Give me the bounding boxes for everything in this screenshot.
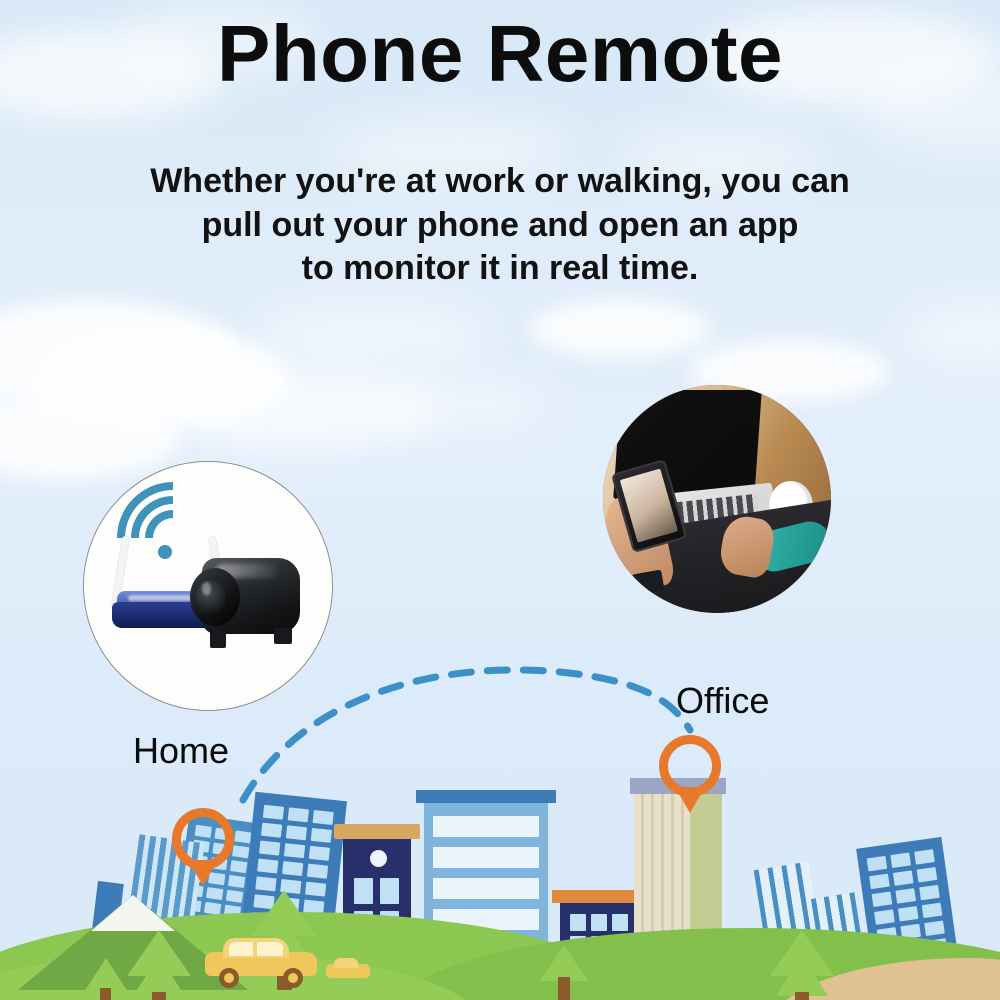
car-wheel	[219, 968, 239, 988]
clock-icon	[370, 850, 387, 867]
device-photo-circle	[83, 461, 333, 711]
car-icon	[205, 938, 317, 978]
window-band	[433, 847, 539, 868]
subtitle-line-3: to monitor it in real time.	[0, 247, 1000, 291]
cloud	[390, 380, 550, 430]
phone-screen-video-call	[620, 468, 678, 542]
city-skyline-illustration	[0, 690, 1000, 1000]
cloud	[900, 300, 1000, 370]
camera-stand	[274, 628, 292, 644]
car-roof	[334, 958, 358, 968]
map-pin-tip	[188, 860, 218, 886]
cloud	[530, 300, 710, 358]
window-band	[433, 816, 539, 837]
page-title: Phone Remote	[0, 14, 1000, 94]
cloud	[250, 300, 490, 370]
car-window	[257, 942, 283, 956]
car-wheel	[283, 968, 303, 988]
map-pin-home[interactable]	[172, 808, 234, 896]
subtitle-line-1: Whether you're at work or walking, you c…	[0, 160, 1000, 204]
roof	[552, 890, 644, 903]
subtitle-line-2: pull out your phone and open an app	[0, 204, 1000, 248]
map-pin-tip	[675, 787, 705, 813]
wifi-signal-icon	[158, 545, 172, 559]
camera-lens	[196, 577, 226, 617]
roof	[416, 790, 556, 803]
poster-canvas: Phone Remote Whether you're at work or w…	[0, 0, 1000, 1000]
map-pin-office[interactable]	[659, 735, 721, 823]
car-window	[229, 942, 253, 956]
camera-lens-reflection	[202, 582, 211, 595]
camera-stand	[210, 630, 226, 648]
phone-usage-photo-circle	[603, 385, 831, 613]
subtitle-block: Whether you're at work or walking, you c…	[0, 160, 1000, 291]
car-icon	[326, 958, 370, 980]
roof	[334, 824, 420, 839]
mountain-snowcap	[91, 895, 175, 931]
window-band	[433, 878, 539, 899]
